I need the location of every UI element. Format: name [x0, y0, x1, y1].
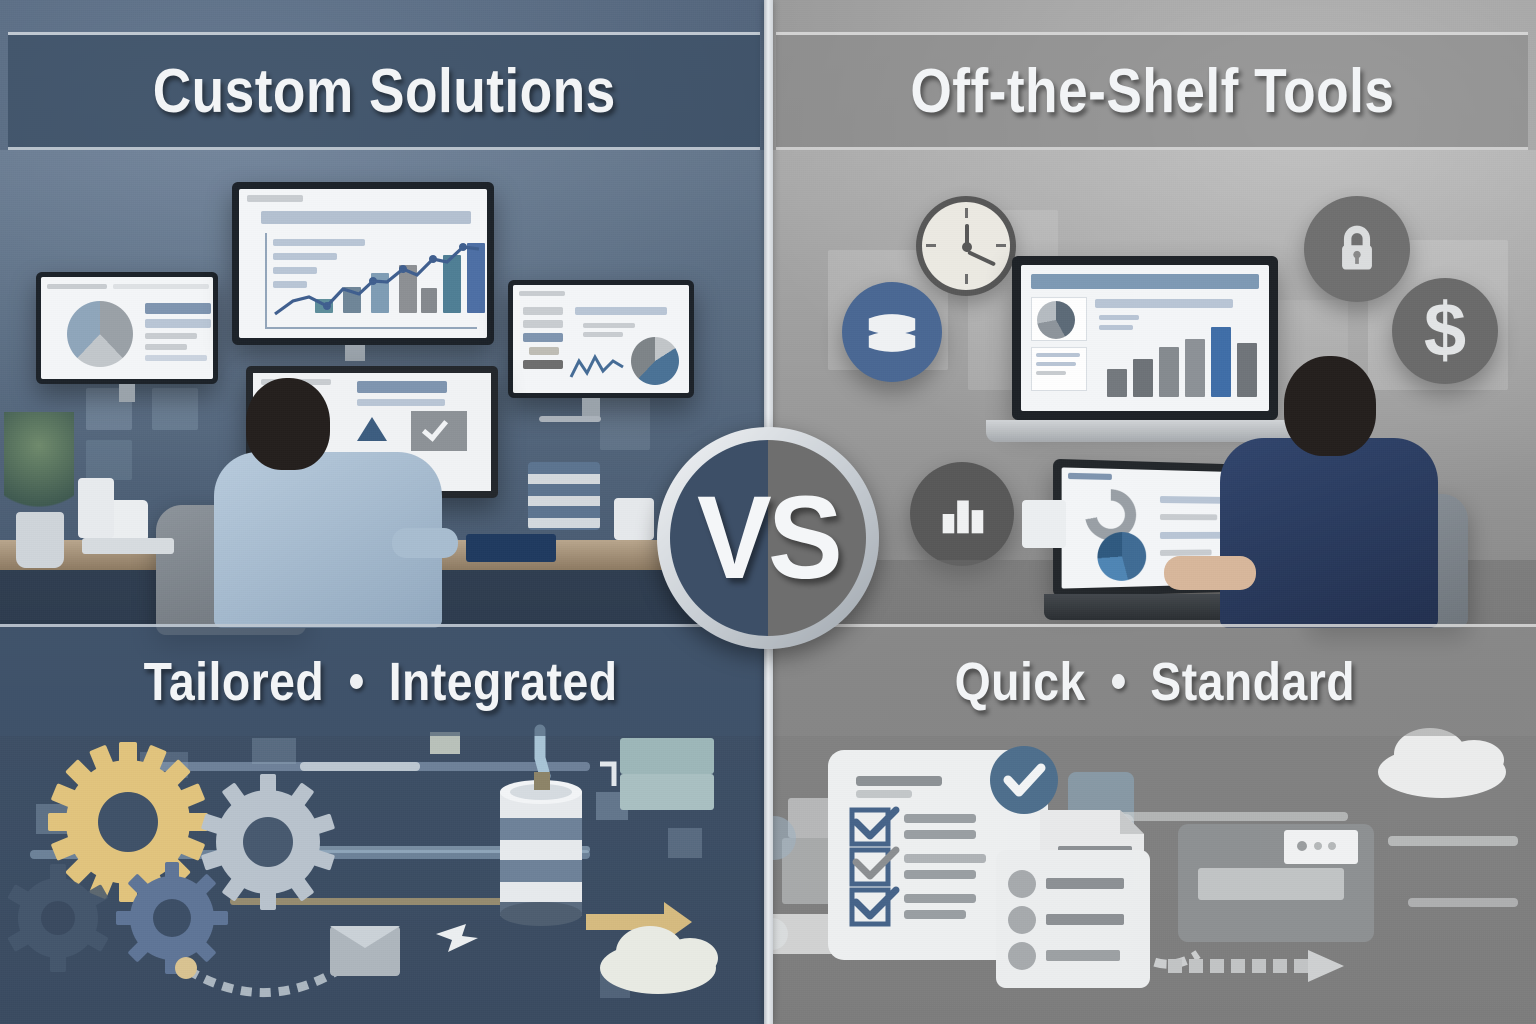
monitor-mixed-dashboard: [508, 280, 694, 398]
cloud-icon-right: [1378, 728, 1506, 798]
left-tagline-second: Integrated: [389, 651, 618, 713]
right-tagline-separator-dot: [1112, 674, 1125, 689]
left-illustration: [0, 718, 768, 1024]
left-tagline-first: Tailored: [144, 651, 325, 713]
dollar-icon: $: [1392, 278, 1498, 384]
database-icon: [842, 282, 942, 382]
left-plant: [4, 412, 74, 524]
left-footer-tagline: Tailored Integrated: [144, 651, 618, 713]
right-tagline-first: Quick: [955, 651, 1086, 713]
mixed-header: [575, 307, 667, 315]
right-person-head: [1284, 356, 1376, 456]
left-person-arm: [392, 528, 458, 558]
screen-topbar: [47, 284, 107, 289]
laptop-bar-3: [1159, 347, 1179, 397]
left-plant-pot: [16, 512, 64, 568]
imac-shape-marker: [357, 417, 387, 441]
notebook-line-2: [1160, 514, 1217, 520]
left-header-band: Custom Solutions: [8, 32, 760, 150]
laptop-bar-6: [1237, 343, 1257, 397]
clock-hand-minute: [967, 250, 996, 266]
monitor-pie-dashboard: [36, 272, 218, 384]
right-header-band: Off-the-Shelf Tools: [776, 32, 1528, 150]
laptop-content-header: [1095, 299, 1233, 308]
monitor-mixed-stand: [582, 398, 600, 418]
screen-row-2: [145, 319, 211, 328]
laptop-text-line-3: [1036, 371, 1066, 375]
screen-analytics: [239, 189, 487, 338]
mixed-sidebar-2: [523, 320, 563, 328]
right-header-title: Off-the-Shelf Tools: [910, 56, 1394, 127]
mixed-topbar: [519, 291, 565, 296]
mixed-sidebar-4: [529, 347, 559, 355]
laptop-bar-2: [1133, 359, 1153, 397]
notebook-topbar: [1068, 473, 1112, 480]
right-footer-tagline: Quick Standard: [955, 651, 1355, 713]
left-backdrop-panel-2: [152, 388, 198, 430]
mixed-text-1: [583, 323, 635, 328]
left-tagline-separator-dot: [350, 674, 363, 689]
laptop-content-line-2: [1099, 325, 1133, 330]
clock-tick-12: [965, 208, 968, 218]
right-coffee-mug: [1022, 500, 1066, 548]
laptop-pie-chart: [1037, 301, 1075, 339]
clock-tick-6: [965, 274, 968, 284]
clock-tick-9: [926, 244, 936, 247]
monitor-mixed-base: [539, 416, 601, 422]
device-block: [1178, 824, 1374, 942]
dollar-glyph: $: [1424, 293, 1466, 369]
notebook-line-3: [1160, 532, 1226, 539]
screen-mixed: [513, 285, 689, 393]
left-keyboard: [82, 538, 174, 554]
left-cup-white: [614, 498, 654, 540]
laptop-text-line-1: [1036, 353, 1080, 357]
laptop-bar-1: [1107, 369, 1127, 397]
imac-panel-header: [357, 381, 447, 393]
list-card: [996, 850, 1150, 988]
monitor-pie-stand: [119, 384, 135, 402]
left-footer-band: Tailored Integrated: [0, 624, 762, 736]
mixed-text-2: [583, 332, 623, 337]
laptop-bar-4: [1185, 339, 1205, 397]
laptop-header-bar: [1031, 274, 1259, 289]
notebook-line-1: [1160, 496, 1228, 504]
clock-icon: [916, 196, 1016, 296]
lock-icon: [1304, 196, 1410, 302]
vs-badge: VS: [657, 427, 879, 649]
screen-row-1: [145, 303, 211, 314]
monitor-analytics-main: [232, 182, 494, 345]
right-person-body: [1220, 438, 1438, 628]
left-panel-custom-solutions: [0, 0, 768, 1024]
notebook-pie-chart: [1097, 532, 1146, 581]
clock-center: [962, 242, 972, 252]
right-person-arm: [1164, 556, 1256, 590]
database-cylinder: [500, 780, 582, 926]
screen-topbar-2: [113, 284, 209, 289]
left-person-head: [246, 378, 330, 470]
check-badge: [990, 746, 1058, 814]
pie-chart: [67, 301, 133, 367]
left-server-stack: [528, 462, 600, 530]
mixed-sidebar-5: [523, 360, 563, 369]
laptop-bar-5: [1211, 327, 1231, 397]
right-footer-band: Quick Standard: [774, 624, 1536, 736]
mixed-pie-chart: [631, 337, 679, 385]
monitor-analytics-stand: [345, 345, 365, 361]
analytics-trend-line: [239, 189, 487, 338]
right-illustration: [768, 718, 1536, 1024]
laptop-screen: [1021, 265, 1269, 411]
laptop-content-line-1: [1099, 315, 1139, 320]
screen-row-5: [145, 355, 207, 361]
bar-chart-icon: [910, 462, 1014, 566]
silver-gear: [201, 774, 335, 910]
screen-row-4: [145, 344, 187, 350]
cloud-icon: [600, 926, 718, 994]
right-tagline-second: Standard: [1150, 651, 1355, 713]
mixed-line-chart: [569, 347, 631, 383]
left-header-title: Custom Solutions: [152, 56, 615, 127]
folder-icon: [330, 926, 400, 976]
vs-badge-text: VS: [663, 427, 874, 649]
mixed-sidebar-1: [523, 307, 563, 315]
left-mug-2: [78, 478, 114, 538]
notebook-line-4: [1160, 549, 1212, 556]
blue-gear: [116, 862, 228, 974]
left-notebook: [466, 534, 556, 562]
left-backdrop-panel-3: [86, 440, 132, 480]
screen-pie-dashboard: [41, 277, 213, 379]
imac-panel-row: [357, 399, 445, 406]
clock-tick-3: [996, 244, 1006, 247]
laptop-text-line-2: [1036, 362, 1076, 366]
mixed-sidebar-3: [523, 333, 563, 342]
dark-gear: [7, 864, 109, 972]
right-panel-off-the-shelf: $: [768, 0, 1536, 1024]
infographic-stage: $: [0, 0, 1536, 1024]
screen-row-3: [145, 333, 197, 339]
laptop-dashboard: [1012, 256, 1278, 420]
